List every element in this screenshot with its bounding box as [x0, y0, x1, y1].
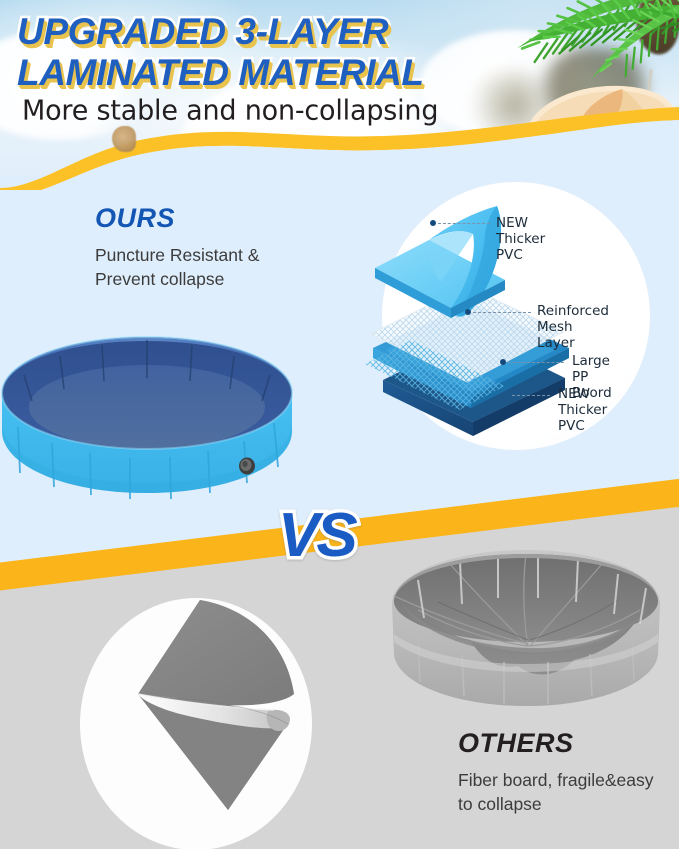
- callout-dot: [465, 309, 471, 315]
- callout-leader-line: [512, 395, 550, 396]
- callout-leader-line: [438, 223, 490, 224]
- header-title: UPGRADED 3-LAYER LAMINATED MATERIAL: [17, 12, 487, 92]
- title-line-2: LAMINATED MATERIAL: [17, 53, 487, 92]
- fiber-board-circle: [80, 598, 312, 849]
- layer-callouts: NEW Thicker PVC Reinforced Mesh Layer La…: [382, 182, 672, 452]
- ours-heading: OURS: [95, 203, 175, 234]
- callout-dot: [500, 359, 506, 365]
- callout-leader-line: [473, 312, 531, 313]
- blue-pool-illustration: [0, 323, 294, 518]
- others-heading: OTHERS: [458, 728, 574, 759]
- others-description: Fiber board, fragile&easy to collapse: [458, 768, 658, 816]
- infographic-root: UPGRADED 3-LAYER LAMINATED MATERIAL More…: [0, 0, 679, 849]
- title-line-1: UPGRADED 3-LAYER: [17, 12, 487, 51]
- ours-description: Puncture Resistant & Prevent collapse: [95, 243, 310, 291]
- callout-dot: [430, 220, 436, 226]
- callout-leader-line: [508, 362, 564, 363]
- callout-label: NEW Thicker PVC: [496, 215, 545, 263]
- vs-badge: VS: [278, 505, 355, 567]
- sand-texture: [112, 126, 136, 152]
- drain-plug-icon: [239, 458, 255, 475]
- peeling-sheet-illustration: [80, 598, 312, 849]
- gray-pool-illustration: [378, 530, 668, 730]
- callout-label: NEW Thicker PVC: [558, 386, 607, 434]
- callout-label: Reinforced Mesh Layer: [537, 303, 609, 351]
- yellow-wave-divider: [0, 100, 679, 190]
